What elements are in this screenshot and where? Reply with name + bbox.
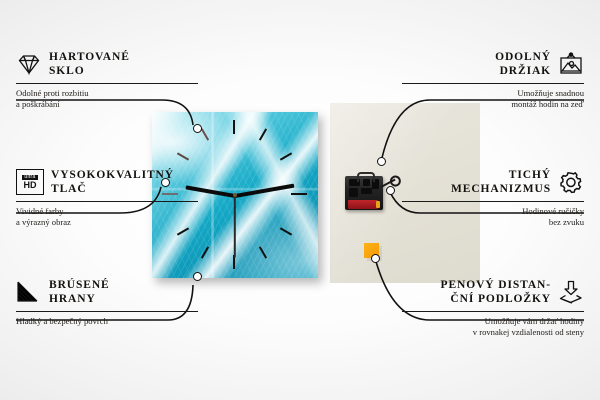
feature-title-line1: PENOVÝ DISTAN- xyxy=(441,278,551,292)
feature-title-line1: VYSOKOKVALITNÝ xyxy=(51,168,174,182)
ultra-hd-icon-label-top: ultra xyxy=(22,175,37,180)
foam-pad-icon xyxy=(558,280,584,304)
feature-foam-spacers: PENOVÝ DISTAN- ČNÍ PODLOŽKY Umožňuje vám… xyxy=(402,278,584,338)
feature-title-line2: HRANY xyxy=(49,292,110,306)
ultra-hd-icon-label-bottom: HD xyxy=(24,181,37,190)
picture-hanger-icon xyxy=(558,52,584,76)
feature-title-line1: BRÚSENÉ xyxy=(49,278,110,292)
feature-desc-line1: Vividné farby xyxy=(16,206,198,217)
callout-dot-silent-mechanism xyxy=(386,186,395,195)
feature-title-line1: TICHÝ xyxy=(451,168,551,182)
diamond-icon xyxy=(16,52,42,76)
feature-title-line2: MECHANIZMUS xyxy=(451,182,551,196)
callout-dot-hardened-glass xyxy=(193,124,202,133)
callout-dot-foam-spacers xyxy=(371,254,380,263)
feature-durable-holder: ODOLNÝ DRŽIAK Umožňuje snadnou montáž ho… xyxy=(402,50,584,110)
feature-desc-line1: Hodinové ručičky xyxy=(402,206,584,217)
feature-silent-mechanism: TICHÝ MECHANIZMUS Hodinové ručičky bez z… xyxy=(402,168,584,228)
feature-desc-line1: Hladký a bezpečný povrch xyxy=(16,316,198,327)
feature-divider xyxy=(402,201,584,202)
infographic-canvas: HARTOVANÉ SKLO Odolné proti rozbitiu a p… xyxy=(0,0,600,400)
ultra-hd-icon: ultra HD xyxy=(16,169,44,195)
gear-icon xyxy=(558,170,584,194)
callout-dot-durable-holder xyxy=(377,157,386,166)
feature-title-line2: SKLO xyxy=(49,64,130,78)
feature-title-line2: DRŽIAK xyxy=(495,64,551,78)
feature-divider xyxy=(16,83,198,84)
feature-desc-line2: bez zvuku xyxy=(402,217,584,228)
feature-divider xyxy=(16,311,198,312)
feature-desc-line2: v rovnakej vzdialenosti od steny xyxy=(402,327,584,338)
feature-ground-edges: BRÚSENÉ HRANY Hladký a bezpečný povrch xyxy=(16,278,198,327)
feature-title-line1: HARTOVANÉ xyxy=(49,50,130,64)
feature-divider xyxy=(402,311,584,312)
feature-desc-line2: montáž hodin na zeď xyxy=(402,99,584,110)
feature-title-line2: ČNÍ PODLOŽKY xyxy=(441,292,551,306)
bevelled-edge-icon xyxy=(16,280,42,304)
feature-divider xyxy=(16,201,198,202)
feature-desc-line2: a výrazný obraz xyxy=(16,217,198,228)
feature-desc-line1: Umožňuje vám držať hodiny xyxy=(402,316,584,327)
feature-hardened-glass: HARTOVANÉ SKLO Odolné proti rozbitiu a p… xyxy=(16,50,198,110)
feature-desc-line1: Umožňuje snadnou xyxy=(402,88,584,99)
feature-high-quality-print: ultra HD VYSOKOKVALITNÝ TLAČ Vividné far… xyxy=(16,168,198,228)
feature-title-line2: TLAČ xyxy=(51,182,174,196)
feature-desc-line2: a poškrábání xyxy=(16,99,198,110)
feature-title-line1: ODOLNÝ xyxy=(495,50,551,64)
feature-divider xyxy=(402,83,584,84)
feature-desc-line1: Odolné proti rozbitiu xyxy=(16,88,198,99)
